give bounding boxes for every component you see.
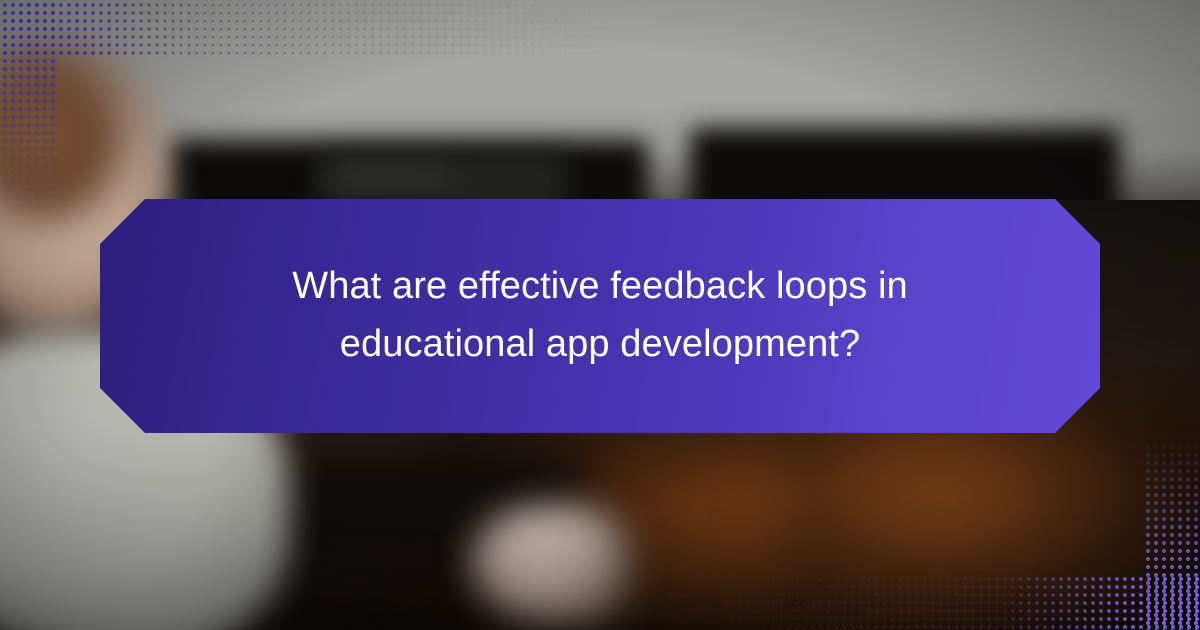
social-card-canvas: What are effective feedback loops in edu… [0, 0, 1200, 630]
headline-title: What are effective feedback loops in edu… [270, 258, 930, 374]
headline-card: What are effective feedback loops in edu… [100, 199, 1100, 433]
